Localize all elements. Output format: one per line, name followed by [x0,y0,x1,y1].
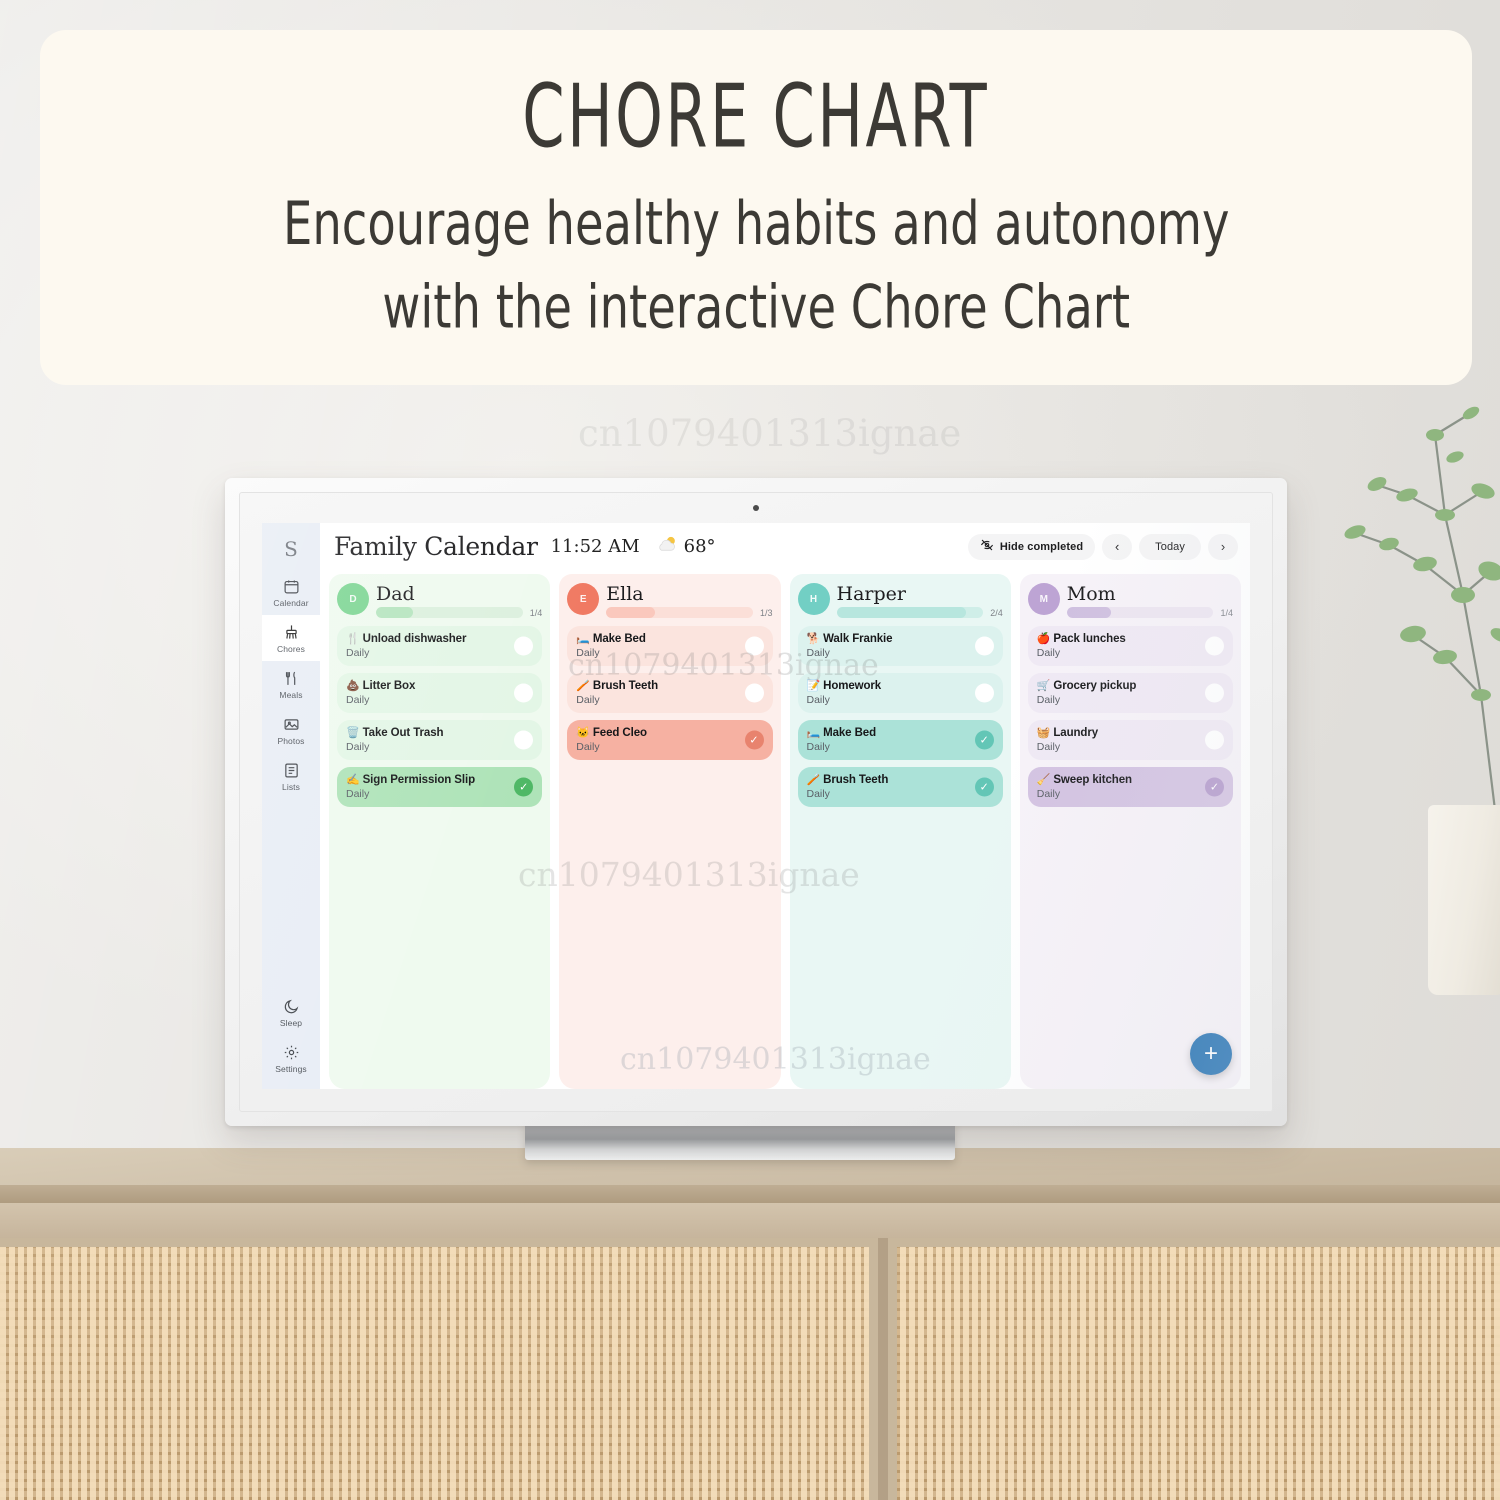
chore-checkbox[interactable] [745,637,764,656]
chore-task[interactable]: 🛒Grocery pickupDaily [1028,673,1233,713]
chore-frequency: Daily [1037,646,1197,660]
chore-frequency: Daily [807,646,967,660]
weather-widget[interactable]: 68° [656,534,716,559]
sidebar-item-settings[interactable]: Settings [262,1035,320,1081]
chore-title: 🛏️Make Bed [807,726,967,740]
chore-title-text: Laundry [1053,727,1098,739]
progress-row: 2/4 [837,607,1003,618]
camera-icon [753,505,759,511]
chore-title: 💩Litter Box [346,679,506,693]
gear-icon [283,1044,300,1061]
chore-emoji-icon: 🍴 [346,633,360,645]
promo-subtitle: Encourage healthy habits and autonomy wi… [283,182,1229,349]
chore-title: 🛒Grocery pickup [1037,679,1197,693]
chore-task[interactable]: 📝HomeworkDaily [798,673,1003,713]
scene: cn1079401313ignae cn1079401313ignae cn10… [0,0,1500,1500]
chore-emoji-icon: 🐱 [576,727,590,739]
chore-emoji-icon: 💩 [346,680,360,692]
cabinet-door-right[interactable] [888,1238,1500,1500]
app-logo[interactable]: S [284,529,298,569]
chore-checkbox[interactable] [975,637,994,656]
sidebar-item-photos[interactable]: Photos [262,707,320,753]
next-day-button[interactable]: › [1208,534,1238,560]
chore-checkbox-checked[interactable]: ✓ [1205,778,1224,797]
chore-task[interactable]: 💩Litter BoxDaily [337,673,542,713]
chore-title-text: Homework [823,680,881,692]
chore-title-text: Sweep kitchen [1053,774,1132,786]
cutlery-icon [283,670,300,687]
chore-title-text: Feed Cleo [593,727,647,739]
sidebar-item-label: Lists [282,782,300,792]
sidebar-item-label: Photos [277,736,304,746]
chore-column: MMom1/4🍎Pack lunchesDaily🛒Grocery pickup… [1020,574,1241,1089]
chore-task[interactable]: 🪥Brush TeethDaily✓ [798,767,1003,807]
chore-title-text: Sign Permission Slip [363,774,475,786]
chore-task[interactable]: 🛏️Make BedDaily [567,626,772,666]
chore-title: 🐕Walk Frankie [807,632,967,646]
chore-task[interactable]: 🧹Sweep kitchenDaily✓ [1028,767,1233,807]
chore-frequency: Daily [346,646,506,660]
sidebar-item-sleep[interactable]: Sleep [262,989,320,1035]
chore-title: 🍴Unload dishwasher [346,632,506,646]
sidebar-item-label: Chores [277,644,305,654]
chore-checkbox[interactable] [514,684,533,703]
chore-emoji-icon: 🧹 [1037,774,1051,786]
column-header: MMom1/4 [1028,583,1233,618]
chore-title: 🪥Brush Teeth [807,773,967,787]
chore-emoji-icon: 🐕 [807,633,821,645]
page-title: Family Calendar [334,532,538,561]
eye-off-icon [980,538,994,555]
broom-icon [283,624,300,641]
chore-frequency: Daily [1037,740,1197,754]
person-name: Harper [837,584,1003,604]
promo-banner: CHORE CHART Encourage healthy habits and… [40,30,1472,385]
person-name: Dad [376,584,542,604]
progress-row: 1/3 [606,607,772,618]
chore-title-text: Litter Box [363,680,416,692]
chore-checkbox[interactable] [514,731,533,750]
main-content: Family Calendar 11:52 AM 68° [320,523,1250,1089]
avatar[interactable]: D [337,583,369,615]
chore-checkbox[interactable] [1205,684,1224,703]
promo-subtitle-line1: Encourage healthy habits and autonomy [283,182,1229,266]
calendar-icon [283,578,300,595]
chore-emoji-icon: 📝 [807,680,821,692]
sidebar-item-label: Sleep [280,1018,302,1028]
plant-branches [1285,395,1500,815]
progress-label: 1/3 [760,608,773,618]
progress-label: 1/4 [1220,608,1233,618]
chore-emoji-icon: 🛒 [1037,680,1051,692]
progress-track [376,607,523,618]
chore-frequency: Daily [576,693,736,707]
progress-fill [376,607,413,618]
chore-checkbox[interactable] [514,637,533,656]
sidebar-item-calendar[interactable]: Calendar [262,569,320,615]
column-header-text: Ella1/3 [606,583,772,618]
column-header: EElla1/3 [567,583,772,618]
chore-emoji-icon: 🪥 [576,680,590,692]
column-header-text: Mom1/4 [1067,583,1233,618]
progress-track [837,607,984,618]
chore-emoji-icon: 🧺 [1037,727,1051,739]
chore-checkbox[interactable] [1205,637,1224,656]
chore-frequency: Daily [807,787,967,801]
chore-title-text: Make Bed [823,727,876,739]
column-header-text: Dad1/4 [376,583,542,618]
chore-frequency: Daily [1037,693,1197,707]
chore-title-text: Make Bed [593,633,646,645]
chore-task[interactable]: 🍎Pack lunchesDaily [1028,626,1233,666]
progress-fill [606,607,654,618]
chore-title: 🐱Feed Cleo [576,726,736,740]
temperature-value: 68° [684,536,716,557]
sidebar-item-lists[interactable]: Lists [262,753,320,799]
smart-display-device: S Calendar [225,478,1287,1126]
progress-row: 1/4 [1067,607,1233,618]
promo-title: CHORE CHART [523,66,990,167]
chore-title-text: Grocery pickup [1053,680,1136,692]
today-button[interactable]: Today [1139,534,1201,560]
progress-label: 1/4 [530,608,543,618]
chore-title-text: Brush Teeth [823,774,888,786]
chore-emoji-icon: ✍️ [346,774,360,786]
device-screen: S Calendar [262,523,1250,1089]
sidebar-item-meals[interactable]: Meals [262,661,320,707]
chore-title: 🧺Laundry [1037,726,1197,740]
device-bezel: S Calendar [239,492,1273,1112]
chore-title-text: Walk Frankie [823,633,892,645]
chore-column: DDad1/4🍴Unload dishwasherDaily💩Litter Bo… [329,574,550,1089]
sidebar-item-label: Meals [279,690,302,700]
avatar[interactable]: H [798,583,830,615]
promo-subtitle-line2: with the interactive Chore Chart [283,266,1229,350]
progress-label: 2/4 [990,608,1003,618]
chore-task[interactable]: 🐱Feed CleoDaily✓ [567,720,772,760]
chore-frequency: Daily [807,740,967,754]
column-header: HHarper2/4 [798,583,1003,618]
chore-title-text: Brush Teeth [593,680,658,692]
chore-checkbox[interactable] [975,684,994,703]
chore-emoji-icon: 🪥 [807,774,821,786]
chore-task[interactable]: ✍️Sign Permission SlipDaily✓ [337,767,542,807]
chore-task[interactable]: 🗑️Take Out TrashDaily [337,720,542,760]
plant-pot [1428,805,1500,995]
chore-checkbox-checked[interactable]: ✓ [975,731,994,750]
chore-title: 📝Homework [807,679,967,693]
photo-icon [283,716,300,733]
chore-column: HHarper2/4🐕Walk FrankieDaily📝HomeworkDai… [790,574,1011,1089]
avatar[interactable]: E [567,583,599,615]
chore-title: ✍️Sign Permission Slip [346,773,506,787]
sidebar-item-chores[interactable]: Chores [262,615,320,661]
clock: 11:52 AM [551,536,640,557]
cabinet-door-left[interactable] [0,1238,878,1500]
moon-icon [283,998,300,1015]
app-header: Family Calendar 11:52 AM 68° [320,523,1250,570]
chore-task[interactable]: 🧺LaundryDaily [1028,720,1233,760]
chore-frequency: Daily [346,787,506,801]
chore-checkbox[interactable] [1205,731,1224,750]
sidebar-item-label: Settings [275,1064,307,1074]
prev-day-button[interactable]: ‹ [1102,534,1132,560]
chore-title-text: Take Out Trash [363,727,444,739]
device-stand [525,1122,955,1160]
column-header-text: Harper2/4 [837,583,1003,618]
column-header: DDad1/4 [337,583,542,618]
chore-frequency: Daily [807,693,967,707]
chore-title: 🛏️Make Bed [576,632,736,646]
chore-title: 🪥Brush Teeth [576,679,736,693]
chore-title: 🍎Pack lunches [1037,632,1197,646]
chore-title-text: Pack lunches [1053,633,1125,645]
chore-emoji-icon: 🍎 [1037,633,1051,645]
person-name: Mom [1067,584,1233,604]
chore-task[interactable]: 🍴Unload dishwasherDaily [337,626,542,666]
chore-column: EElla1/3🛏️Make BedDaily🪥Brush TeethDaily… [559,574,780,1089]
chore-frequency: Daily [1037,787,1197,801]
chore-task[interactable]: 🪥Brush TeethDaily [567,673,772,713]
chore-frequency: Daily [346,740,506,754]
list-icon [283,762,300,779]
chore-checkbox[interactable] [745,684,764,703]
person-name: Ella [606,584,772,604]
chore-emoji-icon: 🛏️ [576,633,590,645]
hide-completed-label: Hide completed [1000,541,1083,553]
chore-emoji-icon: 🛏️ [807,727,821,739]
sidebar-item-label: Calendar [273,598,308,608]
partly-cloudy-icon [656,534,678,559]
chore-checkbox-checked[interactable]: ✓ [514,778,533,797]
chore-frequency: Daily [576,740,736,754]
chore-task[interactable]: 🐕Walk FrankieDaily [798,626,1003,666]
chore-title-text: Unload dishwasher [363,633,467,645]
progress-row: 1/4 [376,607,542,618]
chore-checkbox-checked[interactable]: ✓ [975,778,994,797]
chore-checkbox-checked[interactable]: ✓ [745,731,764,750]
add-chore-button[interactable]: + [1190,1033,1232,1075]
chore-title: 🧹Sweep kitchen [1037,773,1197,787]
chore-frequency: Daily [346,693,506,707]
chore-board: DDad1/4🍴Unload dishwasherDaily💩Litter Bo… [320,570,1250,1089]
chore-task[interactable]: 🛏️Make BedDaily✓ [798,720,1003,760]
progress-track [606,607,753,618]
sidebar: S Calendar [262,523,320,1089]
avatar[interactable]: M [1028,583,1060,615]
hide-completed-button[interactable]: Hide completed [968,534,1095,560]
progress-fill [837,607,966,618]
progress-fill [1067,607,1111,618]
chore-emoji-icon: 🗑️ [346,727,360,739]
chore-title: 🗑️Take Out Trash [346,726,506,740]
chore-frequency: Daily [576,646,736,660]
progress-track [1067,607,1214,618]
